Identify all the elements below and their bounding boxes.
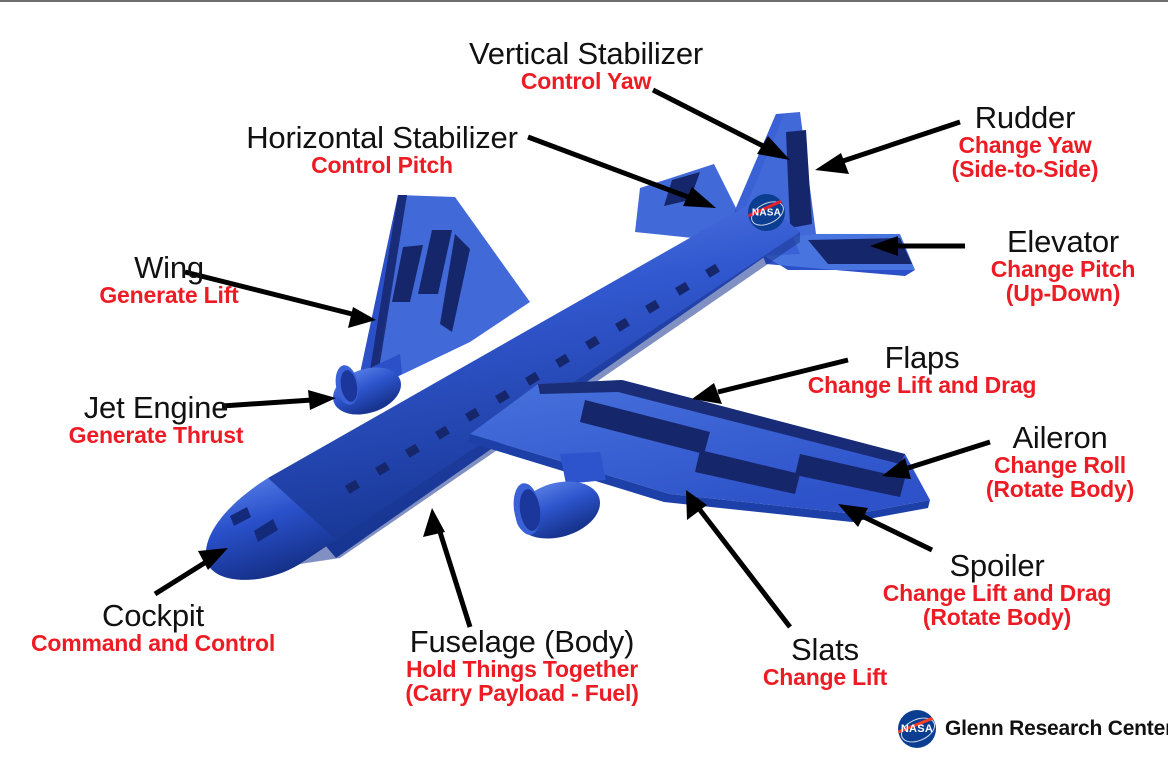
callout-title-jet-engine: Jet Engine <box>56 392 256 424</box>
right-engine-nacelle-body <box>509 472 607 548</box>
left-wing-shadow-edge <box>355 195 407 398</box>
callout-sub2-elevator: (Up-Down) <box>963 282 1163 306</box>
arrow-line-fuselage <box>440 532 470 627</box>
callout-jet-engine: Jet Engine Generate Thrust <box>56 392 256 448</box>
arrow-head-slats <box>686 490 707 520</box>
horizontal-stabilizer-right <box>760 234 915 270</box>
flaps-panel <box>580 400 710 454</box>
spoiler-panel <box>695 450 800 494</box>
callout-title-cockpit: Cockpit <box>28 600 278 632</box>
glenn-research-center-label: Glenn Research Center <box>945 717 1168 741</box>
callout-title-horizontal-stabilizer: Horizontal Stabilizer <box>232 122 532 154</box>
arrow-head-jet-engine <box>308 390 336 410</box>
callout-sub-slats: Change Lift <box>730 666 920 690</box>
callout-rudder: Rudder Change Yaw (Side-to-Side) <box>900 102 1150 182</box>
diagram-canvas: NASA Vertical Stabilizer Control Yaw Rud… <box>0 0 1168 765</box>
left-engine-intake-inner <box>338 369 359 403</box>
callout-horizontal-stabilizer: Horizontal Stabilizer Control Pitch <box>232 122 532 178</box>
left-engine-pylon <box>372 354 402 388</box>
rudder-panel <box>786 130 812 228</box>
arrow-head-elevator <box>870 236 898 256</box>
left-engine-group <box>327 354 407 423</box>
arrow-head-rudder <box>815 153 849 174</box>
horizontal-stabilizer-left <box>635 164 738 240</box>
callout-spoiler: Spoiler Change Lift and Drag (Rotate Bod… <box>862 550 1132 630</box>
nasa-glenn-footer-logo: NASA Glenn Research Center <box>898 710 1168 748</box>
nasa-wordmark: NASA <box>748 207 785 218</box>
callout-title-elevator: Elevator <box>963 226 1163 258</box>
arrow-line-cockpit <box>155 562 206 594</box>
callout-aileron: Aileron Change Roll (Rotate Body) <box>960 422 1160 502</box>
tail-cone <box>700 230 800 258</box>
fuselage-body <box>268 198 800 558</box>
arrow-head-aileron <box>882 458 911 479</box>
callout-sub2-spoiler: (Rotate Body) <box>862 606 1132 630</box>
left-wing-panel-inner <box>392 245 423 302</box>
nasa-tail-logo: NASA <box>748 194 785 231</box>
callout-sub-aileron: Change Roll <box>960 454 1160 478</box>
callout-sub-elevator: Change Pitch <box>963 258 1163 282</box>
callout-title-rudder: Rudder <box>900 102 1150 134</box>
left-wing-group <box>355 195 530 398</box>
right-wing <box>470 380 930 514</box>
arrow-head-vertical-stabilizer <box>757 136 790 160</box>
callout-title-spoiler: Spoiler <box>862 550 1132 582</box>
arrow-line-vertical-stabilizer <box>653 90 775 152</box>
right-wing-trailing-shadow <box>468 434 930 522</box>
cockpit-window-1 <box>230 507 251 526</box>
callout-sub-wing: Generate Lift <box>74 284 264 308</box>
arrow-line-slats <box>700 510 790 627</box>
callout-cockpit: Cockpit Command and Control <box>28 600 278 656</box>
callout-elevator: Elevator Change Pitch (Up-Down) <box>963 226 1163 306</box>
left-engine-nacelle-body <box>327 359 407 422</box>
callout-slats: Slats Change Lift <box>730 634 920 690</box>
fin-root-dark <box>726 210 744 246</box>
callout-sub-vertical-stabilizer: Control Yaw <box>452 70 720 94</box>
callout-sub-fuselage: Hold Things Together <box>372 658 672 682</box>
fuselage-group <box>206 198 800 580</box>
left-wing-panel-trail <box>440 234 470 332</box>
elevator-right-panel <box>808 238 912 264</box>
arrow-head-horizontal-stabilizer <box>683 187 716 208</box>
right-engine-group <box>509 452 607 548</box>
nasa-wordmark: NASA <box>898 723 936 735</box>
right-engine-intake-rim <box>511 481 544 536</box>
tail-group <box>635 112 915 276</box>
callout-sub-jet-engine: Generate Thrust <box>56 424 256 448</box>
callout-title-fuselage: Fuselage (Body) <box>372 626 672 658</box>
callout-sub-flaps: Change Lift and Drag <box>798 374 1046 398</box>
right-engine-intake-inner <box>517 488 543 532</box>
callout-sub-horizontal-stabilizer: Control Pitch <box>232 154 532 178</box>
nasa-meatball-icon: NASA <box>898 710 936 748</box>
window-row <box>345 264 720 494</box>
callout-sub2-aileron: (Rotate Body) <box>960 478 1160 502</box>
left-engine-intake-rim <box>333 363 362 406</box>
callout-wing: Wing Generate Lift <box>74 252 264 308</box>
callout-title-wing: Wing <box>74 252 264 284</box>
right-wing-group <box>468 380 930 522</box>
callout-sub2-rudder: (Side-to-Side) <box>900 158 1150 182</box>
arrow-line-horizontal-stabilizer <box>528 137 696 200</box>
callout-sub-spoiler: Change Lift and Drag <box>862 582 1132 606</box>
horizontal-stabilizer-right-shadow <box>762 254 915 276</box>
fuselage-belly-shadow <box>300 232 800 564</box>
callout-vertical-stabilizer: Vertical Stabilizer Control Yaw <box>452 38 720 94</box>
horizontal-stabilizer-left-panel <box>664 172 700 206</box>
left-wing-panel-outer <box>418 230 452 294</box>
callout-title-aileron: Aileron <box>960 422 1160 454</box>
callout-title-vertical-stabilizer: Vertical Stabilizer <box>452 38 720 70</box>
arrow-head-spoiler <box>838 504 868 527</box>
arrow-head-wing <box>348 307 376 328</box>
callout-fuselage: Fuselage (Body) Hold Things Together (Ca… <box>372 626 672 706</box>
callout-flaps: Flaps Change Lift and Drag <box>798 342 1046 398</box>
callout-sub-rudder: Change Yaw <box>900 134 1150 158</box>
arrow-head-fuselage <box>423 508 445 537</box>
aileron-panel <box>795 454 905 497</box>
right-engine-pylon <box>560 452 606 484</box>
callout-sub-cockpit: Command and Control <box>28 632 278 656</box>
callout-title-slats: Slats <box>730 634 920 666</box>
cockpit-window-2 <box>254 519 278 542</box>
callout-title-flaps: Flaps <box>798 342 1046 374</box>
left-wing-leading-edge <box>366 195 407 395</box>
callout-sub2-fuselage: (Carry Payload - Fuel) <box>372 682 672 706</box>
arrow-line-spoiler <box>862 516 932 550</box>
arrow-head-flaps <box>692 383 722 404</box>
arrow-head-cockpit <box>198 548 228 570</box>
left-wing <box>355 195 530 397</box>
nose-cone <box>206 478 336 580</box>
